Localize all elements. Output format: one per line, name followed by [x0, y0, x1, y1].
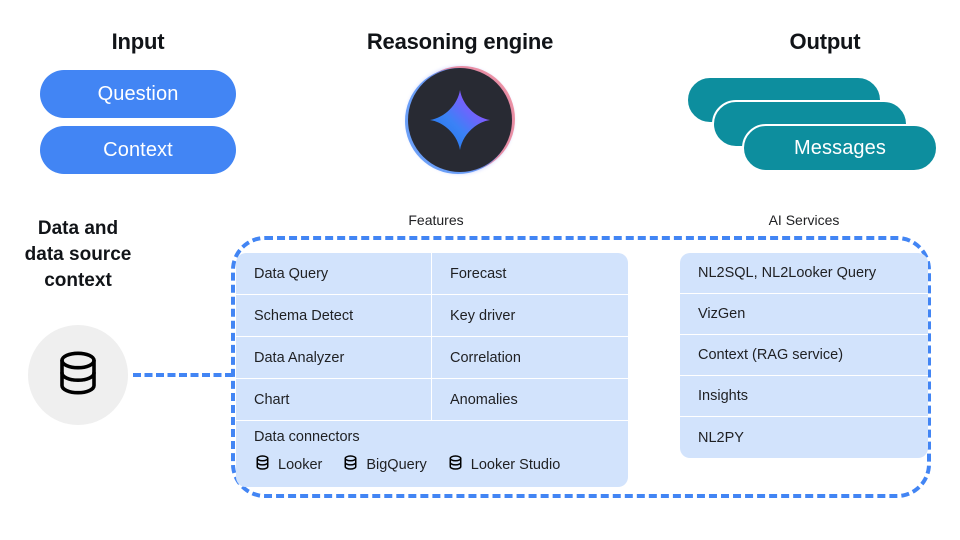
connector-label: Looker Studio	[471, 457, 560, 473]
reasoning-engine-orb	[408, 68, 512, 172]
feature-cell-chart[interactable]: Chart	[236, 379, 432, 420]
database-icon	[342, 454, 359, 475]
input-pill-question[interactable]: Question	[40, 70, 236, 118]
connector-item-looker[interactable]: Looker	[254, 454, 322, 475]
datasource-connector-line	[133, 373, 233, 377]
connector-item-bigquery[interactable]: BigQuery	[342, 454, 426, 475]
datasource-label-line-1: Data and	[0, 216, 156, 242]
ai-service-row-vizgen[interactable]: VizGen	[680, 294, 928, 335]
output-pill-messages[interactable]: Messages	[742, 124, 938, 172]
ai-service-row-nl2sql[interactable]: NL2SQL, NL2Looker Query	[680, 253, 928, 294]
table-row[interactable]: Schema Detect Key driver	[236, 295, 628, 337]
feature-cell-data-analyzer[interactable]: Data Analyzer	[236, 337, 432, 378]
ai-services-table: NL2SQL, NL2Looker Query VizGen Context (…	[680, 253, 928, 458]
connector-label: Looker	[278, 457, 322, 473]
connector-label: BigQuery	[366, 457, 426, 473]
feature-cell-data-query[interactable]: Data Query	[236, 253, 432, 294]
ai-service-row-insights[interactable]: Insights	[680, 376, 928, 417]
heading-output: Output	[700, 29, 950, 55]
diagram-canvas: Input Reasoning engine Output Question C…	[0, 0, 960, 540]
database-icon	[52, 347, 104, 404]
features-table: Data Query Forecast Schema Detect Key dr…	[236, 253, 628, 487]
input-pill-context[interactable]: Context	[40, 126, 236, 174]
database-icon	[447, 454, 464, 475]
feature-cell-forecast[interactable]: Forecast	[432, 253, 628, 294]
data-connectors-title: Data connectors	[254, 429, 628, 445]
gemini-sparkle-icon	[429, 89, 491, 151]
group-label-features: Features	[336, 212, 536, 228]
datasource-icon-circle	[28, 325, 128, 425]
feature-cell-schema-detect[interactable]: Schema Detect	[236, 295, 432, 336]
feature-cell-key-driver[interactable]: Key driver	[432, 295, 628, 336]
ai-service-row-context-rag[interactable]: Context (RAG service)	[680, 335, 928, 376]
heading-reasoning-engine: Reasoning engine	[335, 29, 585, 55]
data-connectors-block: Data connectors Looker	[236, 421, 628, 487]
table-row[interactable]: Data Analyzer Correlation	[236, 337, 628, 379]
datasource-label: Data and data source context	[0, 216, 156, 294]
table-row[interactable]: Data Query Forecast	[236, 253, 628, 295]
ai-service-row-nl2py[interactable]: NL2PY	[680, 417, 928, 458]
group-label-ai-services: AI Services	[704, 212, 904, 228]
output-pill-label: Messages	[794, 137, 886, 160]
connector-item-looker-studio[interactable]: Looker Studio	[447, 454, 560, 475]
database-icon	[254, 454, 271, 475]
heading-input: Input	[38, 29, 238, 55]
data-connectors-list: Looker BigQuery	[254, 454, 628, 475]
feature-cell-correlation[interactable]: Correlation	[432, 337, 628, 378]
datasource-label-line-2: data source	[0, 242, 156, 268]
table-row[interactable]: Chart Anomalies	[236, 379, 628, 421]
datasource-label-line-3: context	[0, 268, 156, 294]
feature-cell-anomalies[interactable]: Anomalies	[432, 379, 628, 420]
